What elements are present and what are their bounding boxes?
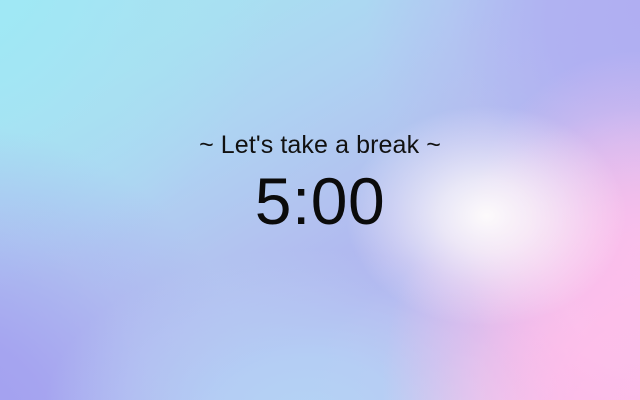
break-timer-screen: ~ Let's take a break ~ 5:00 (0, 0, 640, 400)
timer-content: ~ Let's take a break ~ 5:00 (0, 0, 640, 400)
countdown-timer: 5:00 (0, 166, 640, 236)
break-message: ~ Let's take a break ~ (0, 130, 640, 160)
